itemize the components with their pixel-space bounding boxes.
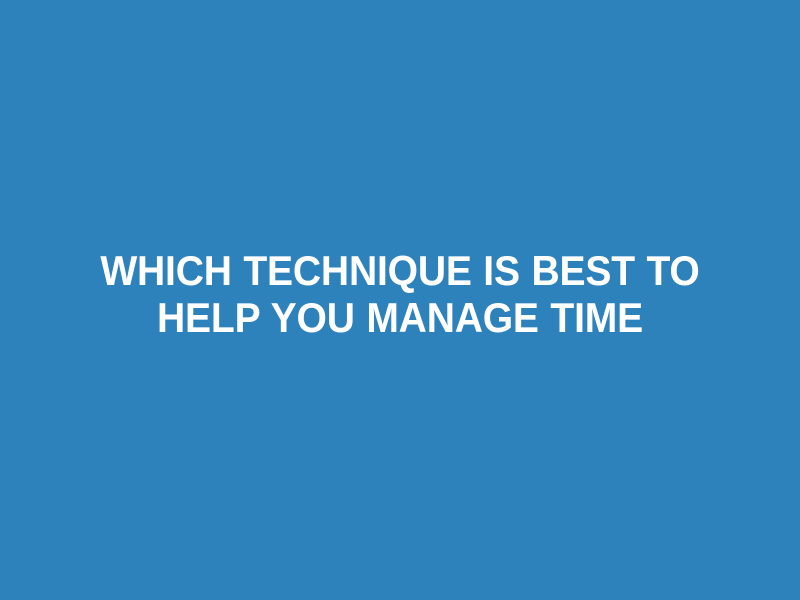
page-title: WHICH TECHNIQUE IS BEST TO HELP YOU MANA… [84,247,716,341]
headline-block: WHICH TECHNIQUE IS BEST TO HELP YOU MANA… [50,247,750,341]
featured-image-card: WHICH TECHNIQUE IS BEST TO HELP YOU MANA… [0,0,800,600]
